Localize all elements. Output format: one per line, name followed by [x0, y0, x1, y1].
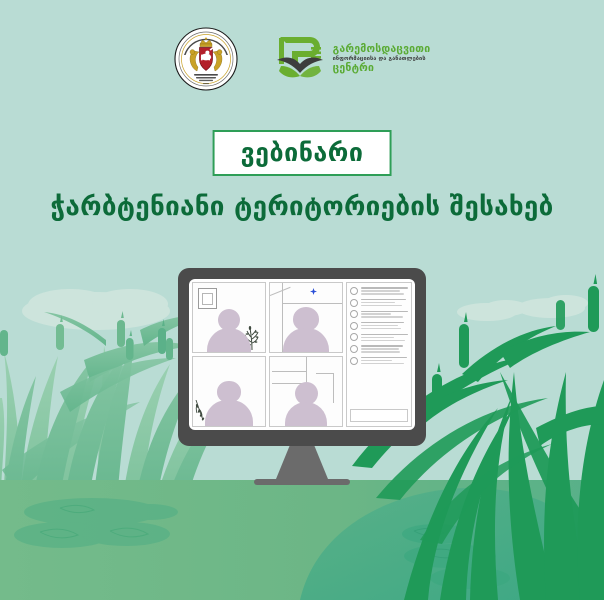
participant-tile[interactable] [269, 282, 343, 353]
poster-subtitle-text: ჭარბტენიანი ტერიტორიების შესახებ [50, 192, 553, 222]
webinar-badge: ვებინარი [213, 130, 392, 176]
participant-tiles-grid [192, 282, 343, 427]
participant-list-row[interactable] [350, 333, 408, 341]
window-frame-right [333, 373, 334, 403]
participant-list-row[interactable] [350, 322, 408, 330]
wall-horizon-line [282, 303, 343, 304]
avatar-icon [350, 345, 358, 353]
monitor-bezel [178, 268, 426, 446]
participant-list-footer[interactable] [350, 409, 408, 422]
webinar-poster: გარემოსდაცვითი ინფორმაციისა და განათლები… [0, 0, 604, 600]
window-frame-bottom [316, 373, 334, 374]
monitor-stand-neck [276, 446, 328, 479]
blue-sparkle-icon [310, 288, 317, 295]
participant-list-row[interactable] [350, 310, 408, 318]
avatar-icon [350, 322, 358, 330]
georgian-coat-of-arms-emblem [174, 27, 238, 91]
person-silhouette [283, 307, 329, 352]
wall-edge-line [270, 287, 291, 296]
open-book-leaf-mark-icon [274, 33, 326, 85]
participant-list-row[interactable] [350, 357, 408, 365]
shelf-line-top [272, 371, 306, 372]
environmental-center-logo: გარემოსდაცვითი ინფორმაციისა და განათლები… [274, 33, 431, 85]
picture-frame-icon [198, 288, 217, 309]
webinar-badge-label: ვებინარი [241, 140, 364, 165]
avatar-icon [350, 299, 358, 307]
participant-tile[interactable] [192, 282, 266, 353]
participant-list-row[interactable] [350, 299, 408, 307]
org-name-line-1: გარემოსდაცვითი [333, 44, 431, 55]
participant-list-row[interactable] [350, 345, 408, 353]
monitor-stand-base [254, 479, 350, 485]
poster-subtitle: ჭარბტენიანი ტერიტორიების შესახებ [0, 192, 604, 222]
participant-list-row[interactable] [350, 287, 408, 295]
participant-tile[interactable] [192, 356, 266, 427]
person-silhouette [285, 382, 327, 426]
avatar-icon [350, 287, 358, 295]
video-call-screen [189, 279, 415, 430]
computer-monitor [178, 268, 426, 485]
avatar-icon [350, 357, 358, 365]
avatar-icon [350, 333, 358, 341]
org-name-line-3: ცენტრი [333, 63, 431, 74]
person-silhouette [207, 309, 251, 352]
logo-row: გარემოსდაცვითი ინფორმაციისა და განათლები… [0, 26, 604, 92]
participant-list-panel[interactable] [346, 282, 412, 427]
person-silhouette [205, 381, 253, 426]
participant-tile[interactable] [269, 356, 343, 427]
avatar-icon [350, 310, 358, 318]
